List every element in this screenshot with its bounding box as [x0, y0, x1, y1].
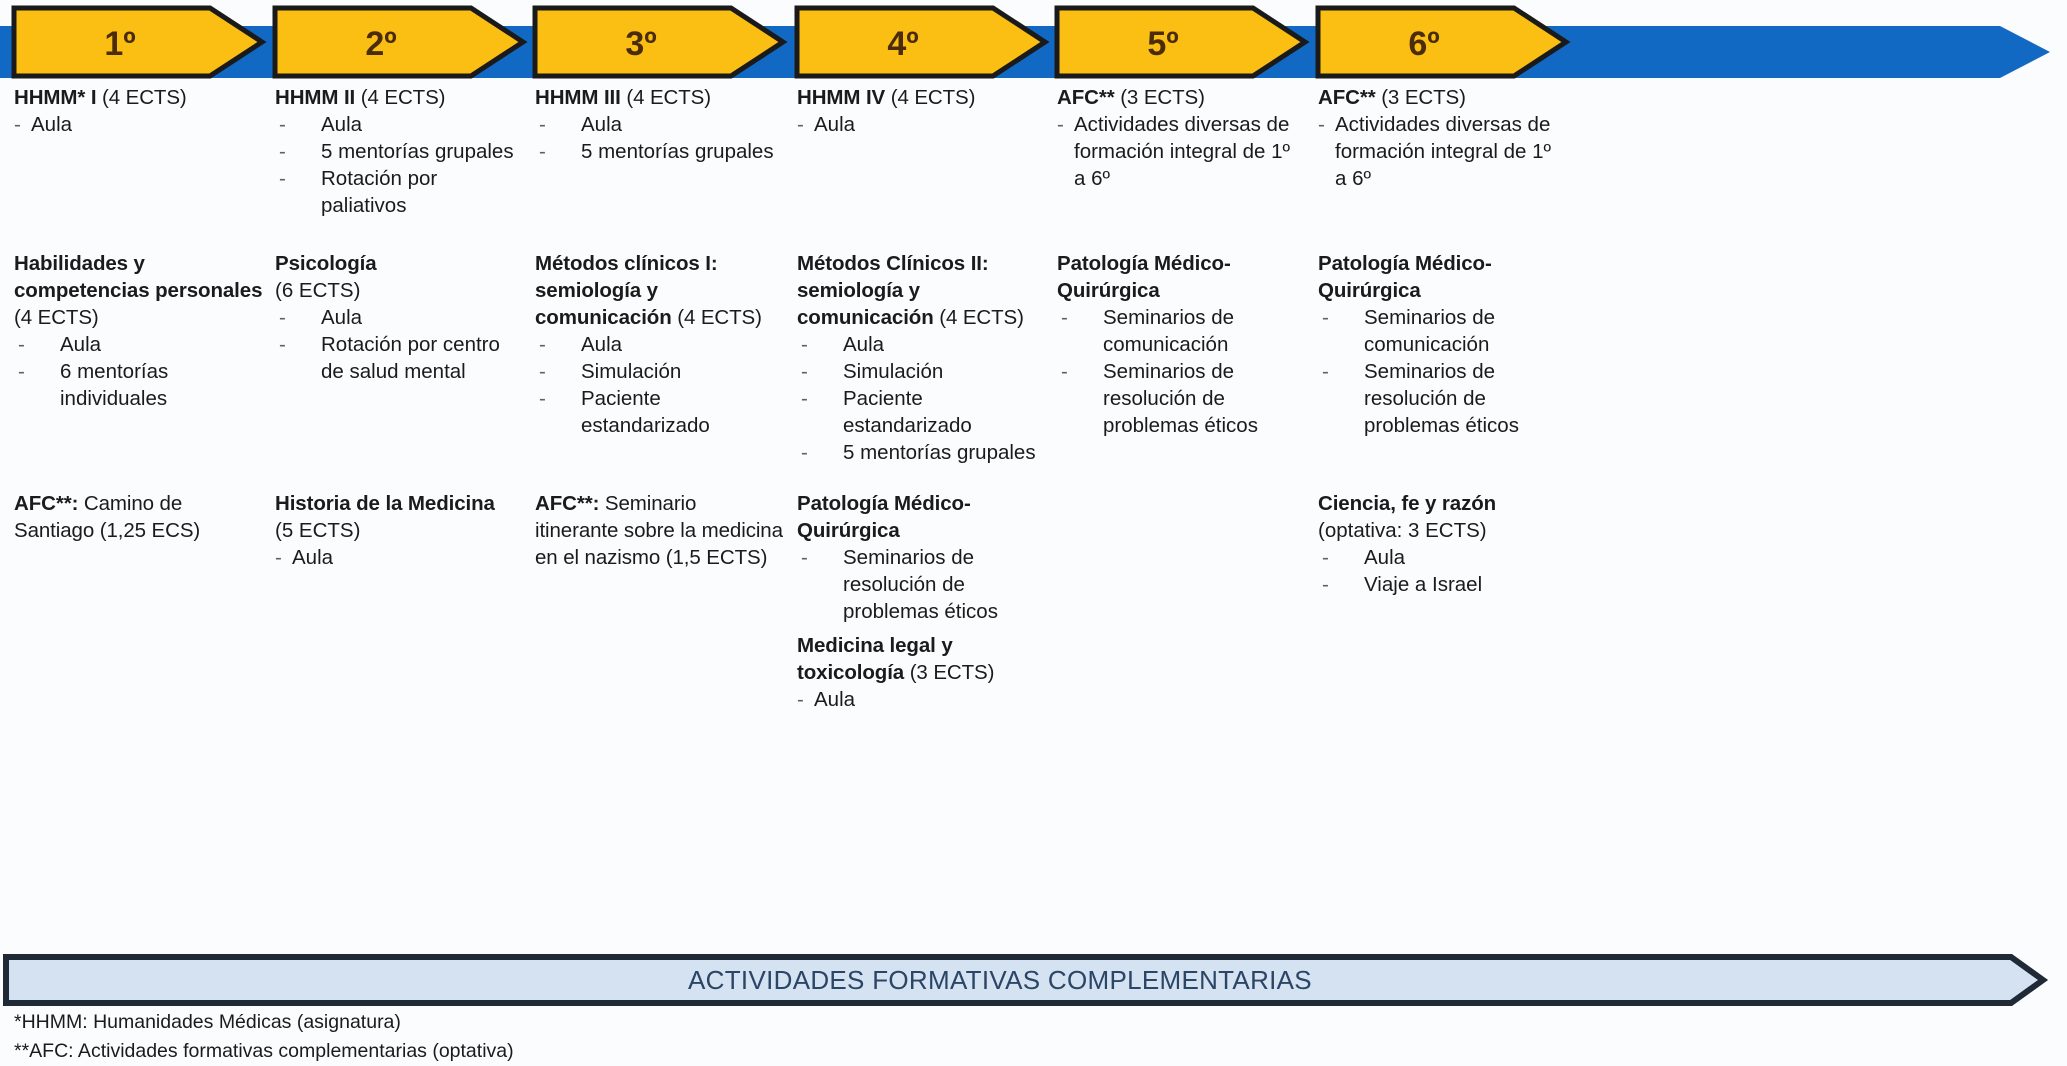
course-title-credits: (4 ECTS) [885, 86, 975, 109]
course-activity-list: -Aula [14, 111, 264, 138]
course-title-bold: Historia de la Medicina [275, 492, 495, 515]
list-item: -Seminarios de comunicación [1057, 304, 1307, 358]
course-title-bold: AFC** [1057, 86, 1115, 109]
course-activity-list: -Aula [797, 111, 1047, 138]
course-title-bold: AFC**: [14, 492, 78, 515]
course-block: Habilidades y competencias personales (4… [14, 250, 264, 412]
list-item: -Seminarios de resolución de problemas é… [1057, 358, 1307, 439]
course-activity-list: -Actividades diversas de formación integ… [1318, 111, 1568, 192]
list-item: -Seminarios de resolución de problemas é… [1318, 358, 1568, 439]
course-activity-list: -Seminarios de comunicación-Seminarios d… [1318, 304, 1568, 439]
list-item: -5 mentorías grupales [797, 439, 1047, 466]
course-title-credits: (4 ECTS) [934, 306, 1024, 329]
course-activity-list: -Aula-Simulación-Paciente estandarizado [535, 331, 785, 439]
year-chevron-label-1: 1º [104, 25, 135, 63]
course-subtitle-credits: (5 ECTS) [275, 517, 525, 544]
course-block: HHMM* I (4 ECTS)-Aula [14, 84, 264, 138]
course-activity-list: -Aula-Rotación por centro de salud menta… [275, 304, 525, 385]
course-activity-list: -Seminarios de comunicación-Seminarios d… [1057, 304, 1307, 439]
dash-bullet-icon: - [1322, 304, 1329, 331]
list-item: -Rotación por paliativos [275, 165, 525, 219]
course-subtitle-credits: (6 ECTS) [275, 277, 525, 304]
course-block: Patología Médico-Quirúrgica-Seminarios d… [1318, 250, 1568, 439]
year-chevron-label-3: 3º [625, 25, 656, 63]
course-title: HHMM III (4 ECTS) [535, 84, 785, 111]
dash-bullet-icon: - [539, 385, 546, 412]
year-chevron-5[interactable] [1057, 8, 1305, 76]
course-block: Métodos clínicos I: semiología y comunic… [535, 250, 785, 439]
dash-bullet-icon: - [279, 165, 286, 192]
curriculum-columns: HHMM* I (4 ECTS)-AulaHabilidades y compe… [0, 84, 2067, 944]
course-title: Habilidades y competencias personales (4… [14, 250, 264, 331]
course-title: Métodos clínicos I: semiología y comunic… [535, 250, 785, 331]
dash-bullet-icon: - [801, 358, 808, 385]
dash-bullet-icon: - [279, 304, 286, 331]
course-title: AFC** (3 ECTS) [1318, 84, 1568, 111]
dash-bullet-icon: - [1322, 358, 1329, 385]
dash-bullet-icon: - [1318, 111, 1325, 138]
course-activity-list: -Aula-5 mentorías grupales [535, 111, 785, 165]
course-title-credits: (3 ECTS) [1115, 86, 1205, 109]
course-title-credits: (3 ECTS) [1376, 86, 1466, 109]
course-title-bold: HHMM III [535, 86, 621, 109]
list-item: -Aula [797, 331, 1047, 358]
year-chevron-1[interactable] [14, 8, 262, 76]
course-title-bold: Psicología [275, 252, 377, 275]
list-item: -5 mentorías grupales [275, 138, 525, 165]
course-block: AFC** (3 ECTS)-Actividades diversas de f… [1318, 84, 1568, 192]
course-title: Patología Médico-Quirúrgica [1318, 250, 1568, 304]
list-item: -Simulación [535, 358, 785, 385]
course-activity-list: -Aula-Viaje a Israel [1318, 544, 1568, 598]
dash-bullet-icon: - [539, 138, 546, 165]
course-title: HHMM IV (4 ECTS) [797, 84, 1047, 111]
course-title-bold: Ciencia, fe y razón [1318, 492, 1496, 515]
course-title-bold: AFC**: [535, 492, 599, 515]
course-title: HHMM II (4 ECTS) [275, 84, 525, 111]
dash-bullet-icon: - [1061, 304, 1068, 331]
course-title-credits: (4 ECTS) [355, 86, 445, 109]
course-title: Psicología [275, 250, 525, 277]
course-activity-list: -Seminarios de resolución de problemas é… [797, 544, 1047, 625]
dash-bullet-icon: - [1322, 571, 1329, 598]
dash-bullet-icon: - [1061, 358, 1068, 385]
course-title: Ciencia, fe y razón [1318, 490, 1568, 517]
year-chevron-label-2: 2º [365, 25, 396, 63]
course-block: HHMM IV (4 ECTS)-Aula [797, 84, 1047, 138]
course-block: Patología Médico-Quirúrgica-Seminarios d… [1057, 250, 1307, 439]
list-item: -Simulación [797, 358, 1047, 385]
dash-bullet-icon: - [14, 111, 21, 138]
course-block: Psicología(6 ECTS)-Aula-Rotación por cen… [275, 250, 525, 385]
list-item: -Aula [797, 686, 1047, 713]
list-item: -Aula [14, 331, 264, 358]
dash-bullet-icon: - [801, 439, 808, 466]
dash-bullet-icon: - [279, 138, 286, 165]
dash-bullet-icon: - [801, 385, 808, 412]
course-title-credits: (3 ECTS) [904, 661, 994, 684]
list-item: -Aula [14, 111, 264, 138]
list-item: -Aula [275, 111, 525, 138]
course-title: Patología Médico-Quirúrgica [1057, 250, 1307, 304]
list-item: -Paciente estandarizado [797, 385, 1047, 439]
course-block: AFC** (3 ECTS)-Actividades diversas de f… [1057, 84, 1307, 192]
course-title-bold: Patología Médico-Quirúrgica [1057, 252, 1231, 302]
dash-bullet-icon: - [279, 331, 286, 358]
course-title: AFC**: Camino de Santiago (1,25 ECS) [14, 490, 264, 544]
list-item: -Aula [1318, 544, 1568, 571]
course-activity-list: -Aula-5 mentorías grupales-Rotación por … [275, 111, 525, 219]
dash-bullet-icon: - [18, 331, 25, 358]
course-activity-list: -Aula [275, 544, 525, 571]
dash-bullet-icon: - [797, 111, 804, 138]
dash-bullet-icon: - [1322, 544, 1329, 571]
course-block: Historia de la Medicina(5 ECTS)-Aula [275, 490, 525, 571]
course-title: HHMM* I (4 ECTS) [14, 84, 264, 111]
banner-label: ACTIVIDADES FORMATIVAS COMPLEMENTARIAS [688, 965, 1312, 995]
year-chevron-label-6: 6º [1408, 25, 1439, 63]
list-item: -Aula [275, 304, 525, 331]
year-chevron-4[interactable] [797, 8, 1045, 76]
course-activity-list: -Aula [797, 686, 1047, 713]
course-title: Patología Médico-Quirúrgica [797, 490, 1047, 544]
list-item: -Aula [797, 111, 1047, 138]
course-block: HHMM III (4 ECTS)-Aula-5 mentorías grupa… [535, 84, 785, 165]
year-chevron-label-5: 5º [1147, 25, 1178, 63]
course-title: Métodos Clínicos II: semiología y comuni… [797, 250, 1047, 331]
dash-bullet-icon: - [279, 111, 286, 138]
dash-bullet-icon: - [18, 358, 25, 385]
dash-bullet-icon: - [539, 331, 546, 358]
course-title-bold: Patología Médico-Quirúrgica [797, 492, 971, 542]
timeline-arrow-bar: 1º2º3º4º5º6º [0, 0, 2067, 80]
course-title-bold: HHMM* I [14, 86, 96, 109]
year-chevron-6[interactable] [1318, 8, 1566, 76]
course-title-bold: Habilidades y competencias personales [14, 252, 262, 302]
list-item: -5 mentorías grupales [535, 138, 785, 165]
course-block: AFC**: Camino de Santiago (1,25 ECS) [14, 490, 264, 544]
course-block: Patología Médico-Quirúrgica-Seminarios d… [797, 490, 1047, 625]
list-item: -Aula [535, 331, 785, 358]
course-block: Medicina legal y toxicología (3 ECTS)-Au… [797, 632, 1047, 713]
list-item: -Actividades diversas de formación integ… [1318, 111, 1568, 192]
year-chevron-2[interactable] [275, 8, 523, 76]
dash-bullet-icon: - [539, 358, 546, 385]
list-item: -Seminarios de resolución de problemas é… [797, 544, 1047, 625]
list-item: -Viaje a Israel [1318, 571, 1568, 598]
course-subtitle-credits: (optativa: 3 ECTS) [1318, 517, 1568, 544]
complementary-activities-banner: ACTIVIDADES FORMATIVAS COMPLEMENTARIAS [0, 952, 2067, 1008]
dash-bullet-icon: - [801, 331, 808, 358]
course-title-bold: Patología Médico-Quirúrgica [1318, 252, 1492, 302]
dash-bullet-icon: - [1057, 111, 1064, 138]
list-item: -Aula [275, 544, 525, 571]
course-title-bold: HHMM IV [797, 86, 885, 109]
list-item: -Seminarios de comunicación [1318, 304, 1568, 358]
dash-bullet-icon: - [275, 544, 282, 571]
course-title-bold: AFC** [1318, 86, 1376, 109]
footnote-list: *HHMM: Humanidades Médicas (asignatura)*… [14, 1008, 1414, 1066]
course-block: Métodos Clínicos II: semiología y comuni… [797, 250, 1047, 466]
list-item: -Actividades diversas de formación integ… [1057, 111, 1307, 192]
course-block: Ciencia, fe y razón(optativa: 3 ECTS)-Au… [1318, 490, 1568, 598]
course-block: AFC**: Seminario itinerante sobre la med… [535, 490, 785, 571]
footnote-2: **AFC: Actividades formativas complement… [14, 1037, 1414, 1066]
course-activity-list: -Aula-Simulación-Paciente estandarizado-… [797, 331, 1047, 466]
list-item: -6 mentorías individuales [14, 358, 264, 412]
year-chevron-3[interactable] [535, 8, 783, 76]
course-title: Medicina legal y toxicología (3 ECTS) [797, 632, 1047, 686]
course-activity-list: -Actividades diversas de formación integ… [1057, 111, 1307, 192]
course-activity-list: -Aula-6 mentorías individuales [14, 331, 264, 412]
course-block: HHMM II (4 ECTS)-Aula-5 mentorías grupal… [275, 84, 525, 219]
list-item: -Paciente estandarizado [535, 385, 785, 439]
course-title-credits: (4 ECTS) [96, 86, 186, 109]
footnote-1: *HHMM: Humanidades Médicas (asignatura) [14, 1008, 1414, 1037]
year-chevron-label-4: 4º [887, 25, 918, 63]
course-title-credits: (4 ECTS) [621, 86, 711, 109]
list-item: -Rotación por centro de salud mental [275, 331, 525, 385]
course-title-bold: HHMM II [275, 86, 355, 109]
course-title: AFC**: Seminario itinerante sobre la med… [535, 490, 785, 571]
dash-bullet-icon: - [539, 111, 546, 138]
course-title: Historia de la Medicina [275, 490, 525, 517]
course-title-credits: (4 ECTS) [14, 306, 99, 329]
list-item: -Aula [535, 111, 785, 138]
course-title-credits: (4 ECTS) [672, 306, 762, 329]
dash-bullet-icon: - [801, 544, 808, 571]
course-title: AFC** (3 ECTS) [1057, 84, 1307, 111]
dash-bullet-icon: - [797, 686, 804, 713]
